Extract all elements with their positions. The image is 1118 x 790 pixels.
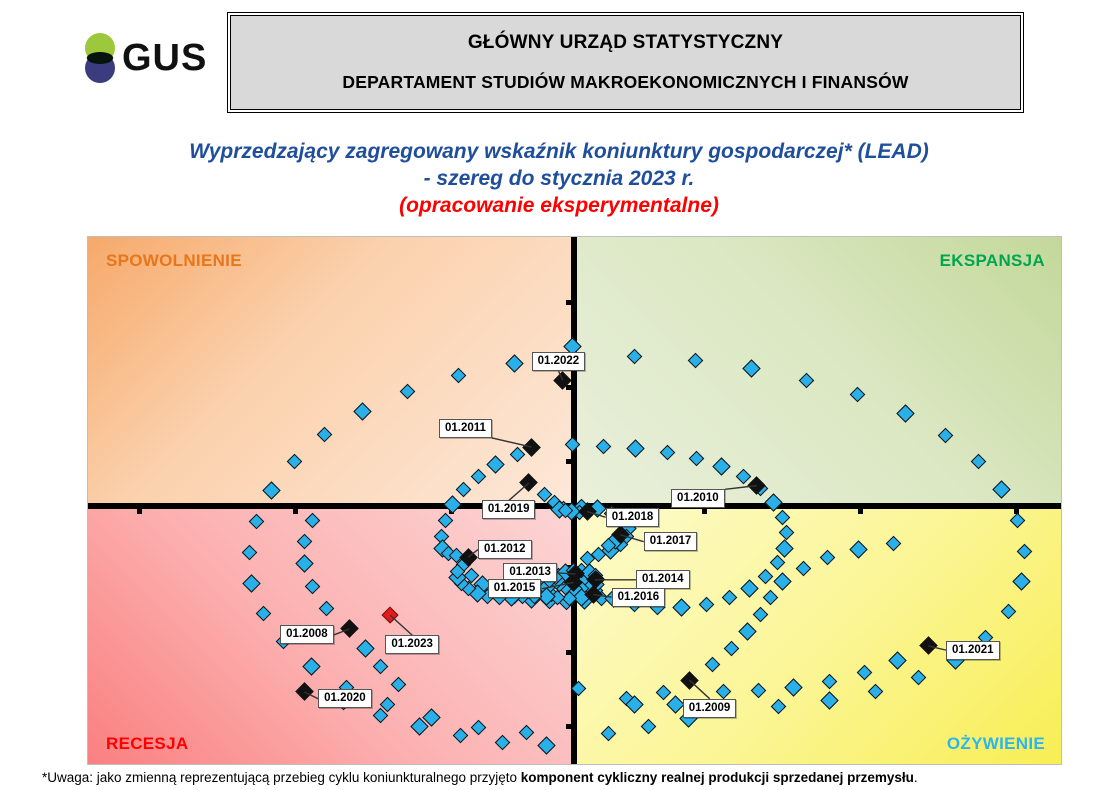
y-axis-tick (566, 385, 571, 390)
annotation-label-01-2021[interactable]: 01.2021 (946, 641, 1000, 660)
annotation-label-01-2016[interactable]: 01.2016 (612, 588, 666, 607)
x-axis-tick (858, 509, 863, 514)
scatter-plot-area: SPOWOLNIENIE EKSPANSJA RECESJA OŻYWIENIE… (87, 236, 1062, 765)
annotation-label-01-2015[interactable]: 01.2015 (488, 579, 542, 598)
y-axis-tick (566, 650, 571, 655)
quadrant-label-expansion: EKSPANSJA (940, 251, 1045, 271)
quadrant-label-recovery: OŻYWIENIE (947, 734, 1045, 754)
annotation-label-01-2008[interactable]: 01.2008 (280, 625, 334, 644)
annotation-label-01-2019[interactable]: 01.2019 (482, 500, 536, 519)
gus-wordmark: GUS (122, 36, 207, 80)
annotation-label-01-2023[interactable]: 01.2023 (385, 635, 439, 654)
annotation-label-01-2011[interactable]: 01.2011 (439, 419, 492, 438)
quadrant-label-slowdown: SPOWOLNIENIE (106, 251, 242, 271)
header: GUS GŁÓWNY URZĄD STATYSTYCZNY DEPARTAMEN… (0, 0, 1118, 125)
footnote: *Uwaga: jako zmienną reprezentującą prze… (42, 769, 1102, 786)
annotation-label-01-2020[interactable]: 01.2020 (318, 689, 372, 708)
gus-two-circles-logo-icon (78, 32, 122, 84)
annotation-label-01-2010[interactable]: 01.2010 (671, 489, 725, 508)
y-axis-tick (566, 459, 571, 464)
chart-title-line1: Wyprzedzający zagregowany wskaźnik koniu… (0, 138, 1118, 165)
quadrant-expansion (575, 237, 1062, 506)
y-axis-tick (566, 724, 571, 729)
org-title-box: GŁÓWNY URZĄD STATYSTYCZNY DEPARTAMENT ST… (227, 12, 1024, 113)
annotation-label-01-2014[interactable]: 01.2014 (636, 570, 690, 589)
chart-title-experimental: (opracowanie eksperymentalne) (0, 192, 1118, 220)
chart-title: Wyprzedzający zagregowany wskaźnik koniu… (0, 138, 1118, 220)
footnote-normal: *Uwaga: jako zmienną reprezentującą prze… (42, 770, 521, 785)
x-axis-tick (137, 509, 142, 514)
annotation-label-01-2022[interactable]: 01.2022 (532, 352, 586, 371)
footnote-bold: komponent cykliczny realnej produkcji sp… (521, 770, 914, 785)
department-name: DEPARTAMENT STUDIÓW MAKROEKONOMICZNYCH I… (342, 72, 908, 93)
annotation-label-01-2017[interactable]: 01.2017 (644, 532, 698, 551)
quadrant-label-recession: RECESJA (106, 734, 188, 754)
y-axis-tick (566, 300, 571, 305)
x-axis-tick (702, 509, 707, 514)
annotation-label-01-2009[interactable]: 01.2009 (683, 699, 737, 718)
annotation-label-01-2018[interactable]: 01.2018 (606, 508, 660, 527)
annotation-label-01-2012[interactable]: 01.2012 (478, 540, 532, 559)
footnote-end: . (914, 770, 918, 785)
org-name: GŁÓWNY URZĄD STATYSTYCZNY (468, 32, 783, 54)
gus-logo: GUS (78, 32, 208, 88)
chart-title-line2: - szereg do stycznia 2023 r. (0, 165, 1118, 192)
x-axis-tick (293, 509, 298, 514)
